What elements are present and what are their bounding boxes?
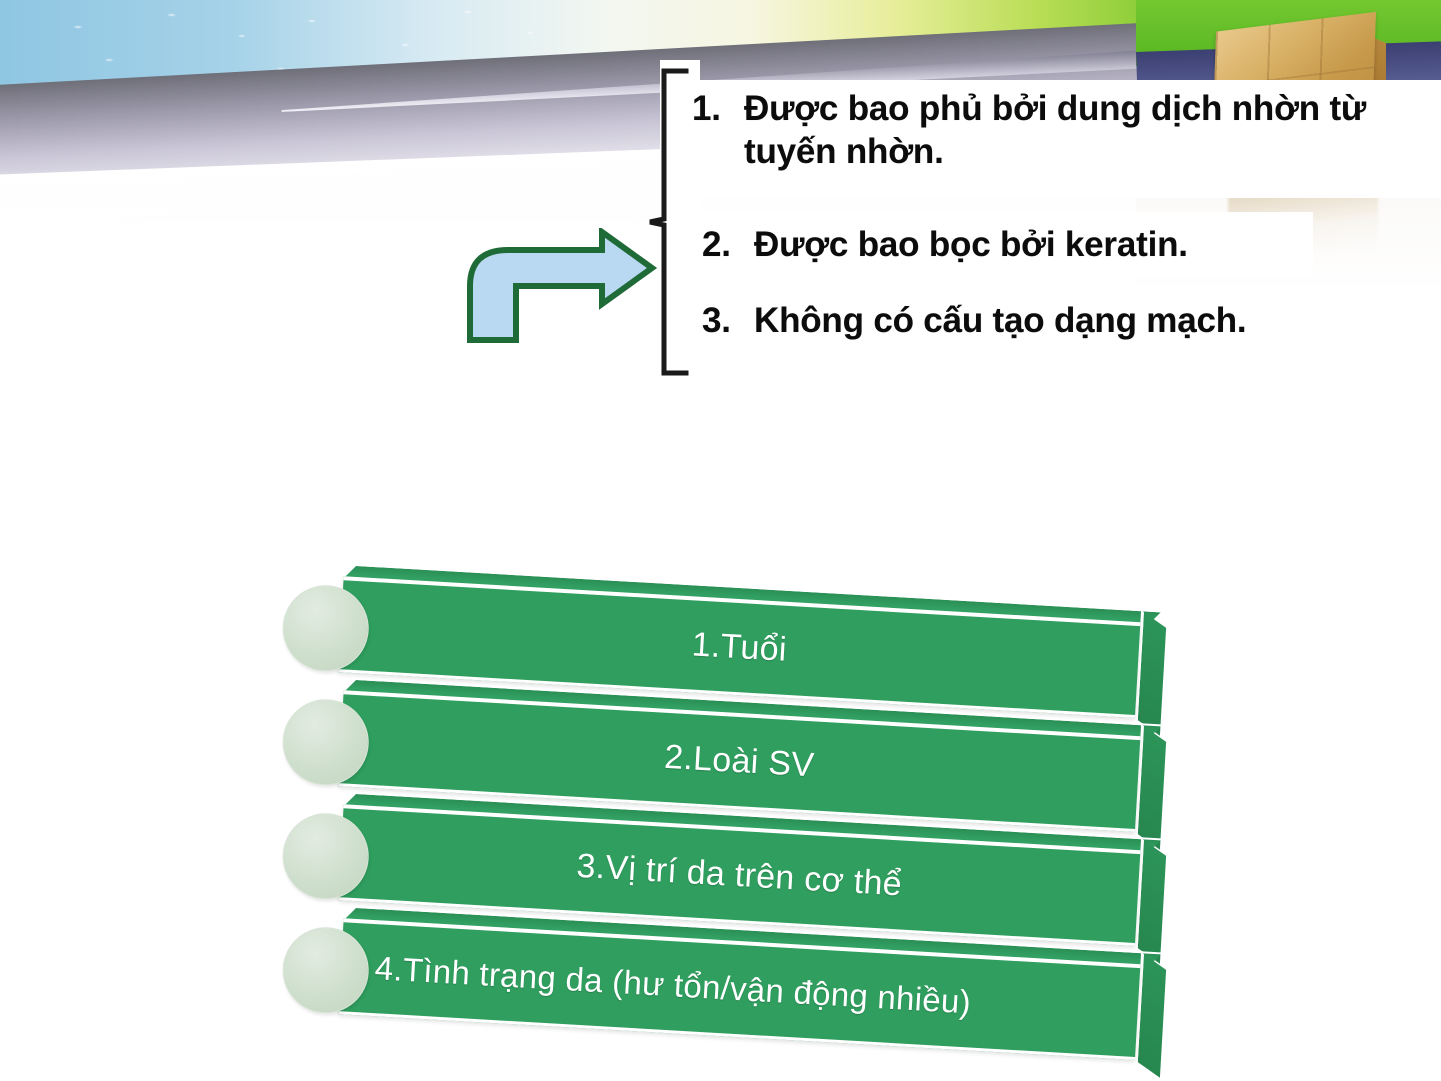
list-item: 1. Được bao phủ bởi dung dịch nhờn từ tu…: [692, 88, 1422, 173]
bent-arrow-right-icon: [462, 228, 662, 346]
list-item: 2. Được bao bọc bởi keratin.: [702, 224, 1402, 267]
banner-stack: 1.Tuổi 2.Loài SV 3.Vị trí da trên cơ thể: [268, 556, 1198, 1081]
list-item-number: 2.: [702, 224, 754, 267]
list-item-number: 1.: [692, 88, 744, 131]
list-item-text: Không có cấu tạo dạng mạch.: [754, 300, 1422, 343]
list-item-number: 3.: [702, 300, 754, 343]
list-item-text: Được bao bọc bởi keratin.: [754, 224, 1402, 267]
slide-canvas: 1. Được bao phủ bởi dung dịch nhờn từ tu…: [0, 0, 1441, 1081]
list-item-text: Được bao phủ bởi dung dịch nhờn từ tuyến…: [744, 88, 1422, 173]
list-item: 3. Không có cấu tạo dạng mạch.: [702, 300, 1422, 343]
